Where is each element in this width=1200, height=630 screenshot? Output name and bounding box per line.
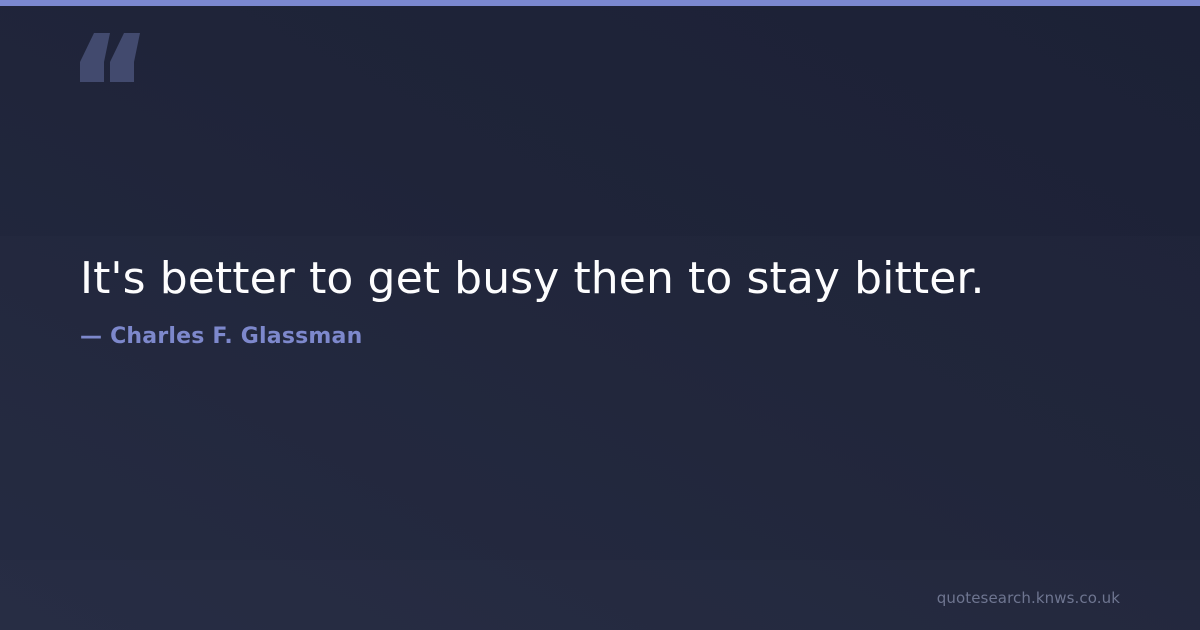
attribution-dash: — [80,324,110,349]
top-accent-bar [0,0,1200,6]
attribution-author-name: Charles F. Glassman [110,324,362,349]
quote-attribution: — Charles F. Glassman [80,324,362,349]
quote-text: It's better to get busy then to stay bit… [80,252,1080,306]
site-watermark: quotesearch.knws.co.uk [937,589,1120,607]
quote-card: It's better to get busy then to stay bit… [0,0,1200,630]
quote-body: It's better to get busy then to stay bit… [80,252,1080,306]
open-quote-icon [78,30,148,86]
